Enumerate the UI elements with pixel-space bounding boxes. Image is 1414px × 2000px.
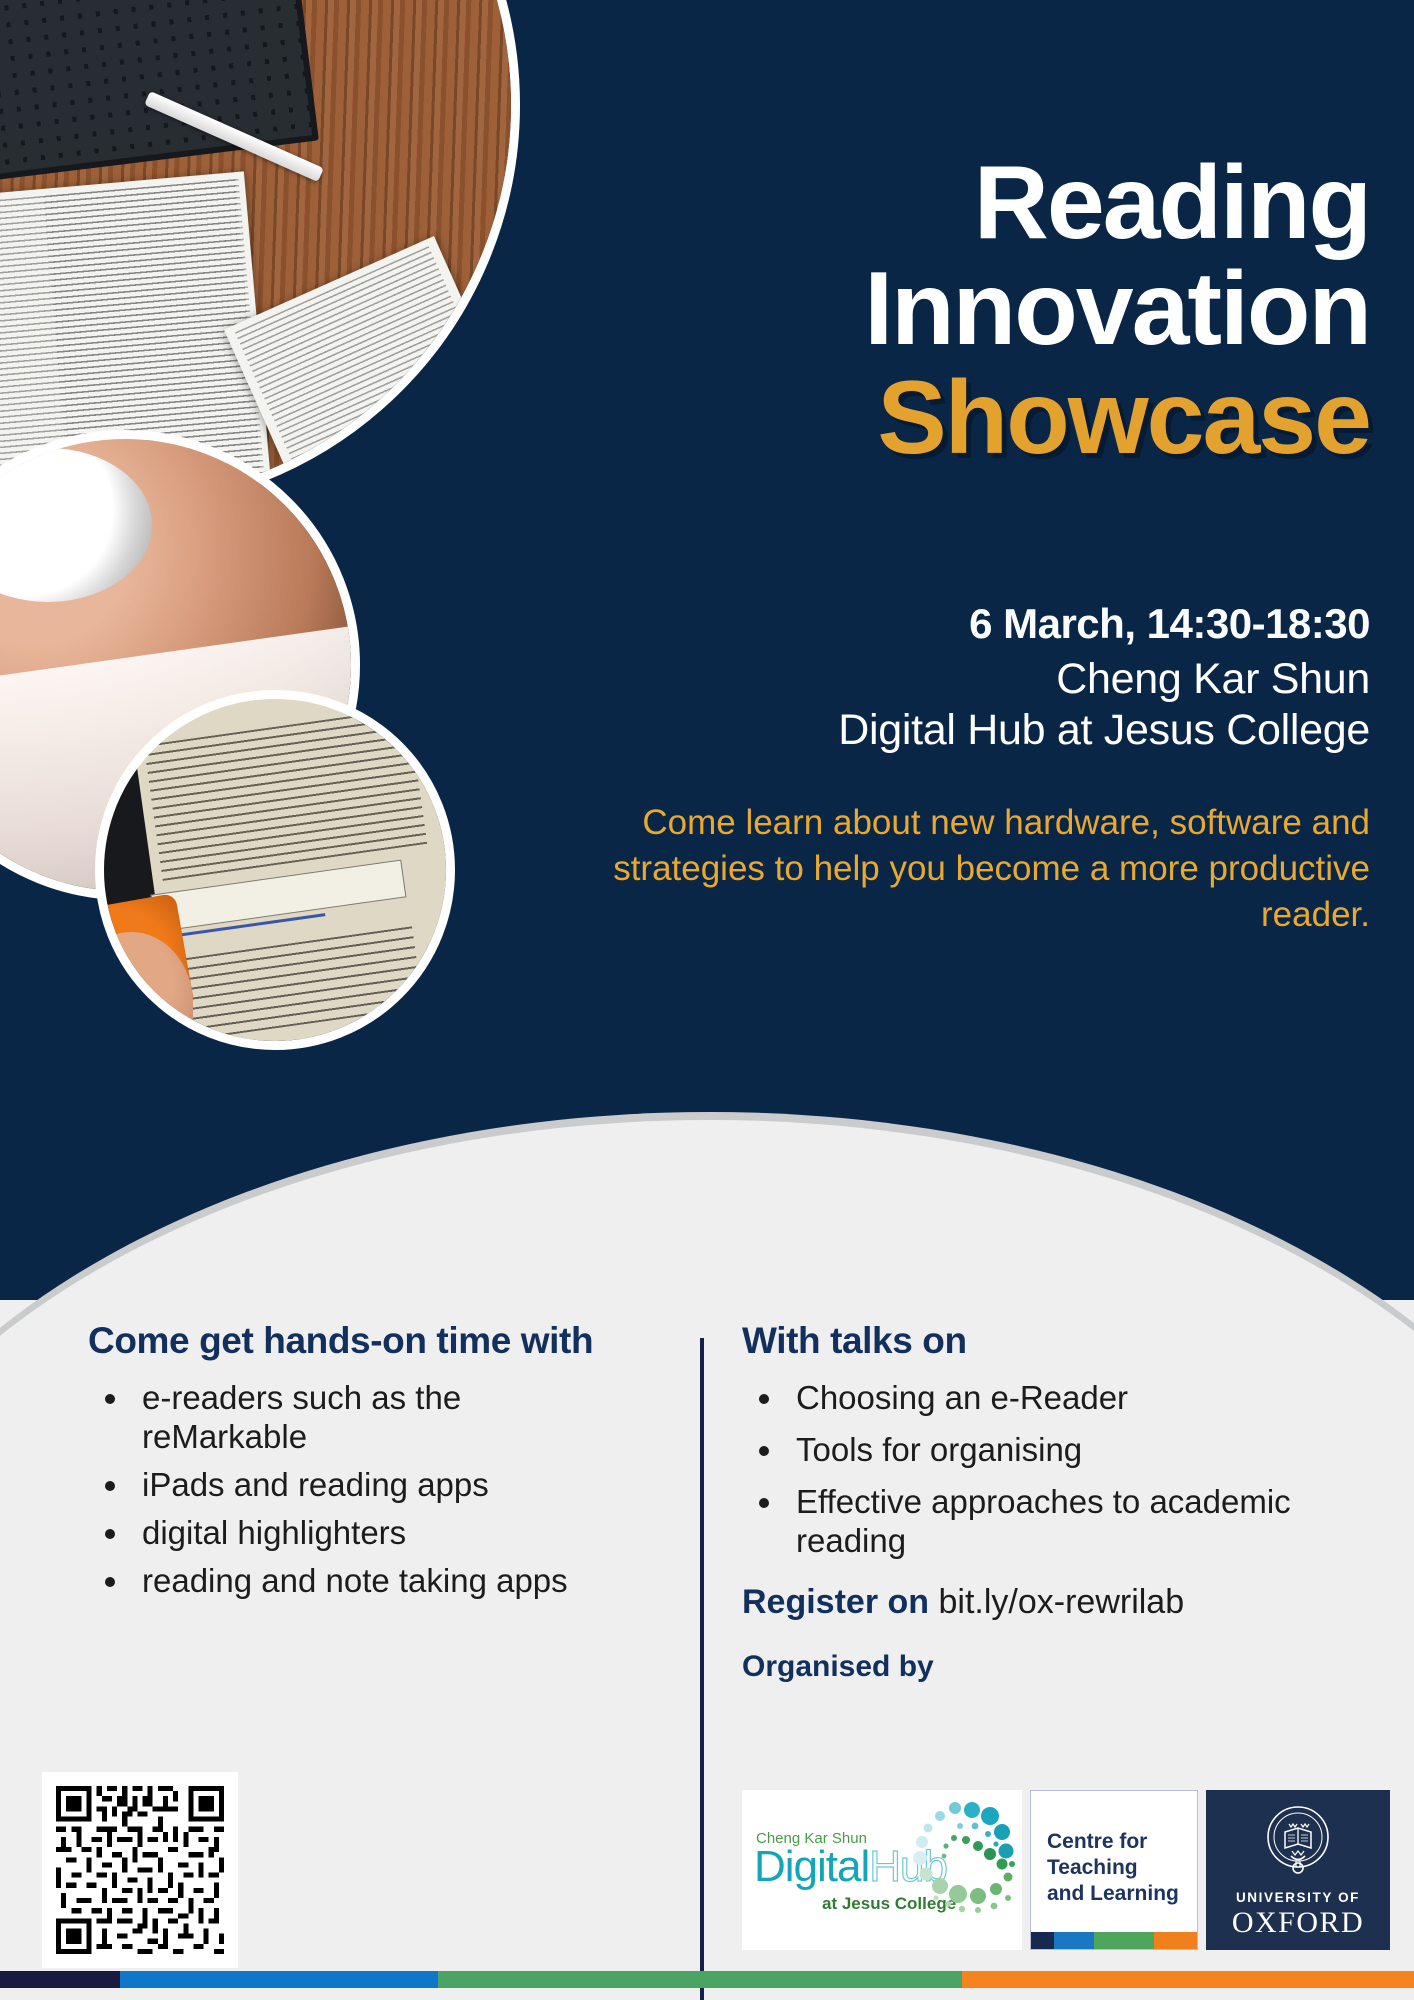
title-line-2: Innovation [670, 256, 1370, 362]
digital-hub-swirl-icon [860, 1794, 1020, 1944]
bottom-color-bar [0, 1971, 1414, 1988]
organiser-logos: Cheng Kar Shun DigitalHub at Jesus Colle… [742, 1790, 1390, 1950]
centre-for-teaching-and-learning-logo: Centre for Teaching and Learning [1030, 1790, 1198, 1950]
event-blurb: Come learn about new hardware, software … [610, 800, 1370, 939]
list-item: digital highlighters [132, 1514, 608, 1553]
bar-segment-green [438, 1971, 961, 1988]
list-item: iPads and reading apps [132, 1466, 608, 1505]
digital-word: Digital [754, 1842, 869, 1891]
register-line: Register on bit.ly/ox-rewrilab [742, 1583, 1342, 1622]
list-item: reading and note taking apps [132, 1562, 608, 1601]
bar-segment-navy [0, 1971, 120, 1988]
date-time-line: 6 March, 14:30-18:30 [650, 600, 1370, 648]
ctl-color-bar [1031, 1932, 1197, 1949]
organised-by-heading: Organised by [742, 1650, 1342, 1684]
hands-on-heading: Come get hands-on time with [88, 1320, 608, 1361]
oxford-line-2: OXFORD [1206, 1906, 1390, 1940]
register-url[interactable]: bit.ly/ox-rewrilab [939, 1583, 1185, 1621]
ctl-line-1: Centre for [1047, 1829, 1179, 1855]
qr-code-icon [56, 1786, 224, 1954]
venue-line-2: Digital Hub at Jesus College [650, 705, 1370, 756]
event-time: 14:30-18:30 [1147, 600, 1370, 647]
list-item: Effective approaches to academic reading [786, 1483, 1342, 1561]
ereader-screen [104, 699, 446, 1041]
qr-code[interactable] [42, 1772, 238, 1968]
list-item: e-readers such as the reMarkable [132, 1379, 608, 1457]
poster: Reading Innovation Showcase 6 March, 14:… [0, 0, 1414, 2000]
event-date: 6 March, [969, 600, 1135, 647]
talks-heading: With talks on [742, 1320, 1342, 1361]
ctl-line-2: Teaching [1047, 1855, 1179, 1881]
oxford-crest-icon [1261, 1804, 1335, 1882]
bar-segment-blue [120, 1971, 438, 1988]
bar-segment-orange [962, 1971, 1414, 1988]
talks-column: With talks on Choosing an e-Reader Tools… [742, 1320, 1342, 1684]
ctl-line-3: and Learning [1047, 1881, 1179, 1907]
register-label: Register on [742, 1583, 929, 1621]
photo-ereader-in-hand [95, 690, 455, 1050]
venue-line-1: Cheng Kar Shun [650, 654, 1370, 705]
ctl-wordmark: Centre for Teaching and Learning [1047, 1829, 1179, 1907]
headline-block: Reading Innovation Showcase [670, 150, 1370, 473]
list-item: Choosing an e-Reader [786, 1379, 1342, 1418]
oxford-line-1: UNIVERSITY OF [1206, 1890, 1390, 1905]
hands-on-column: Come get hands-on time with e-readers su… [88, 1320, 608, 1610]
column-divider [700, 1338, 704, 2000]
title-accent: Showcase [670, 364, 1370, 473]
photo-desk-devices [0, 0, 520, 510]
talks-list: Choosing an e-Reader Tools for organisin… [786, 1379, 1342, 1561]
university-of-oxford-logo: UNIVERSITY OF OXFORD [1206, 1790, 1390, 1950]
digital-hub-logo: Cheng Kar Shun DigitalHub at Jesus Colle… [742, 1790, 1022, 1950]
title-line-1: Reading [670, 150, 1370, 256]
list-item: Tools for organising [786, 1431, 1342, 1470]
event-details: 6 March, 14:30-18:30 Cheng Kar Shun Digi… [650, 600, 1370, 755]
hands-on-list: e-readers such as the reMarkable iPads a… [132, 1379, 608, 1601]
